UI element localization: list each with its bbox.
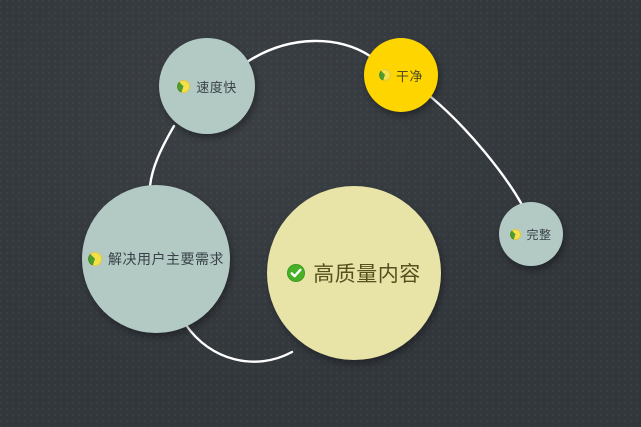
node-label: 完整 <box>526 226 551 243</box>
node-content: 完整 <box>510 226 551 243</box>
pie-chart-icon <box>379 69 391 81</box>
mindmap-canvas: 速度快干净完整解决用户主要需求高质量内容 <box>0 0 641 427</box>
node-label: 速度快 <box>196 77 237 96</box>
edge-speed-userneeds <box>150 126 174 186</box>
node-clean[interactable]: 干净 <box>364 38 438 112</box>
node-content: 干净 <box>379 66 423 85</box>
pie-chart-icon <box>88 252 102 266</box>
node-content: 高质量内容 <box>287 258 421 288</box>
node-label: 解决用户主要需求 <box>108 249 224 269</box>
node-user-needs[interactable]: 解决用户主要需求 <box>82 185 230 333</box>
pie-chart-icon <box>177 80 190 93</box>
node-content: 解决用户主要需求 <box>88 249 224 269</box>
node-label: 高质量内容 <box>313 258 421 288</box>
node-complete[interactable]: 完整 <box>499 202 563 266</box>
edge-userneeds-quality <box>186 325 292 362</box>
pie-chart-icon <box>510 229 521 240</box>
edge-speed-clean <box>247 41 370 62</box>
node-label: 干净 <box>396 66 423 85</box>
node-content: 速度快 <box>177 77 237 96</box>
edge-clean-complete <box>431 97 521 203</box>
node-speed[interactable]: 速度快 <box>159 38 255 134</box>
check-circle-icon <box>287 264 305 282</box>
node-quality-content[interactable]: 高质量内容 <box>267 186 441 360</box>
